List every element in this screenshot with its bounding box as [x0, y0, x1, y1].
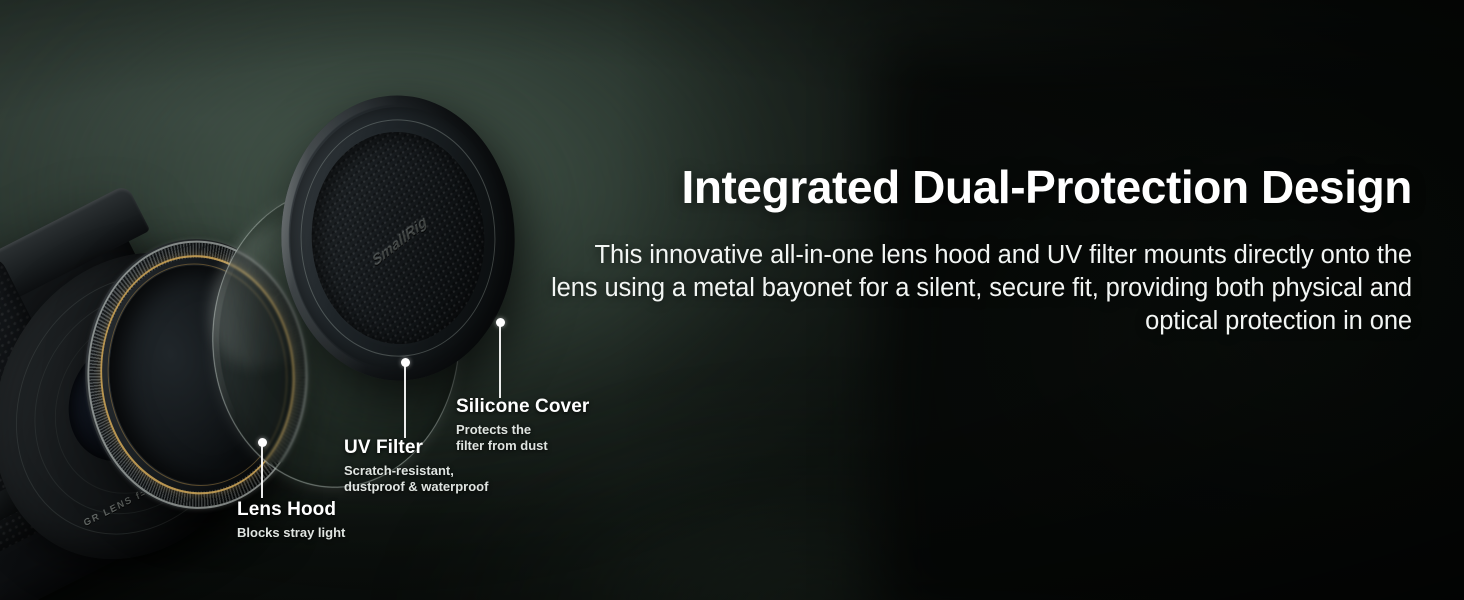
smallrig-logo: SmallRig	[370, 213, 429, 270]
callout-subtitle: Scratch-resistant, dustproof & waterproo…	[344, 463, 488, 496]
headline: Integrated Dual-Protection Design	[546, 162, 1412, 213]
product-feature-banner: GR LENS f=18.3mm SmallRig	[0, 0, 1464, 600]
callout-subtitle: Blocks stray light	[237, 525, 345, 542]
callout-subtitle: Protects the filter from dust	[456, 422, 589, 455]
marketing-copy-block: Integrated Dual-Protection Design This i…	[546, 162, 1412, 338]
callout-lens-hood: Lens Hood Blocks stray light	[237, 499, 345, 541]
leader-line	[499, 325, 501, 398]
leader-line	[404, 365, 406, 438]
body-paragraph: This innovative all-in-one lens hood and…	[546, 239, 1412, 338]
callout-title: Lens Hood	[237, 499, 345, 522]
callout-title: Silicone Cover	[456, 396, 589, 419]
callout-silicone-cover: Silicone Cover Protects the filter from …	[456, 396, 589, 455]
leader-line	[261, 445, 263, 498]
